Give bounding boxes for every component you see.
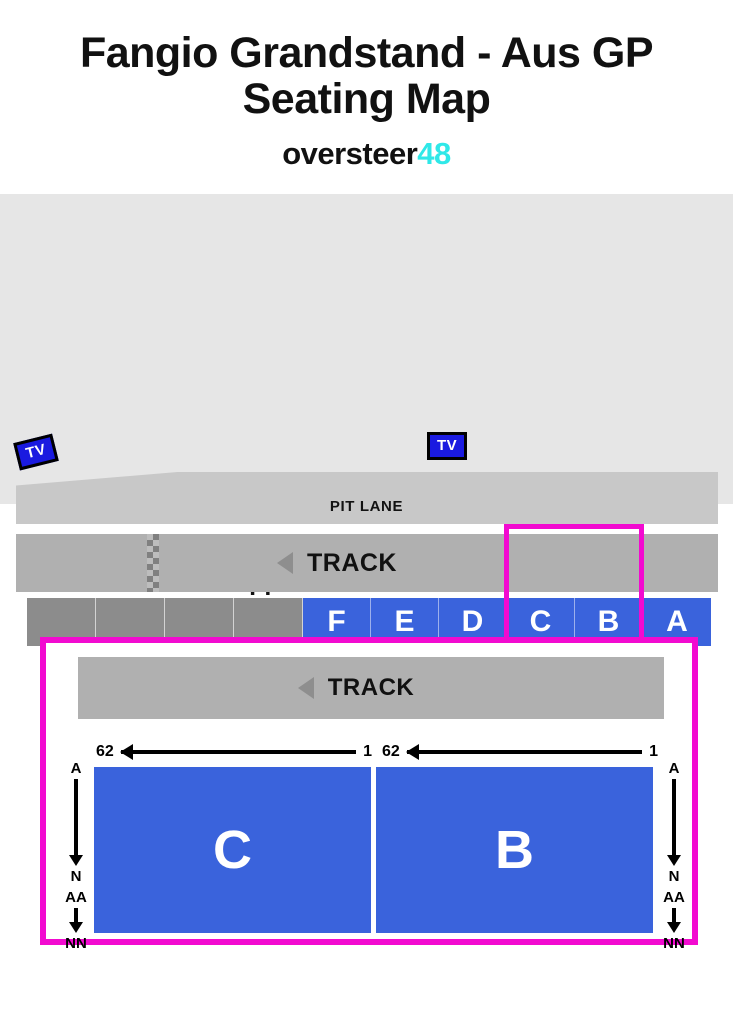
row-label-right-mid: N (669, 869, 680, 884)
track-label: TRACK (307, 549, 397, 578)
seat-direction-arrow-icon-c (121, 750, 356, 754)
page-header: Fangio Grandstand - Aus GP Seating Map o… (0, 0, 733, 172)
detail-section-blocks: C B (94, 767, 653, 933)
tv-screen-icon-center: TV (427, 432, 467, 460)
seat-scale-section-b: 62 1 (382, 741, 658, 763)
seat-scale-section-c: 62 1 (96, 741, 372, 763)
detail-track-label: TRACK (328, 674, 415, 702)
seat-start-b: 62 (382, 743, 400, 761)
row-label-left-second-start: AA (65, 890, 87, 905)
seat-start-c: 62 (96, 743, 114, 761)
seat-direction-arrow-icon-b (407, 750, 642, 754)
row-range-arrow-icon-left-second (74, 908, 78, 924)
brand-logo: oversteer48 (0, 136, 733, 172)
row-label-left-last: NN (65, 936, 87, 951)
row-range-arrow-icon-left-main (74, 779, 78, 857)
detail-track-band: TRACK (78, 657, 664, 719)
page-title-line-2: Seating Map (243, 75, 491, 123)
overview-map-panel: TV TV PIT LANE TRACK F E D C B A Piastri… (0, 194, 733, 504)
row-seat-layout-panel: TRACK 62 1 62 1 A N AA NN C B A N AA NN (40, 637, 698, 945)
row-label-left-first: A (71, 761, 82, 776)
row-range-arrow-icon-right-main (672, 779, 676, 857)
detail-block-b[interactable]: B (376, 767, 653, 933)
row-scale-right: A N AA NN (656, 761, 692, 951)
detail-block-c[interactable]: C (94, 767, 371, 933)
pit-lane-label: PIT LANE (0, 498, 733, 515)
page-title-line-1: Fangio Grandstand - Aus GP (80, 29, 653, 77)
tv-screen-icon-left: TV (13, 434, 59, 471)
row-label-left-mid: N (71, 869, 82, 884)
brand-number: 48 (417, 136, 450, 171)
row-scale-left: A N AA NN (58, 761, 94, 951)
track-direction-group: TRACK (16, 534, 718, 592)
row-label-right-last: NN (663, 936, 685, 951)
detail-track-direction-arrow-icon (298, 677, 314, 699)
seat-end-b: 1 (649, 743, 658, 761)
seat-number-scale-row: 62 1 62 1 (46, 741, 692, 763)
row-label-right-first: A (669, 761, 680, 776)
row-range-arrow-icon-right-second (672, 908, 676, 924)
brand-name: oversteer (282, 136, 417, 171)
seat-end-c: 1 (363, 743, 372, 761)
track-direction-arrow-icon (277, 552, 293, 574)
page-title: Fangio Grandstand - Aus GP Seating Map (40, 30, 693, 122)
row-label-right-second-start: AA (663, 890, 685, 905)
